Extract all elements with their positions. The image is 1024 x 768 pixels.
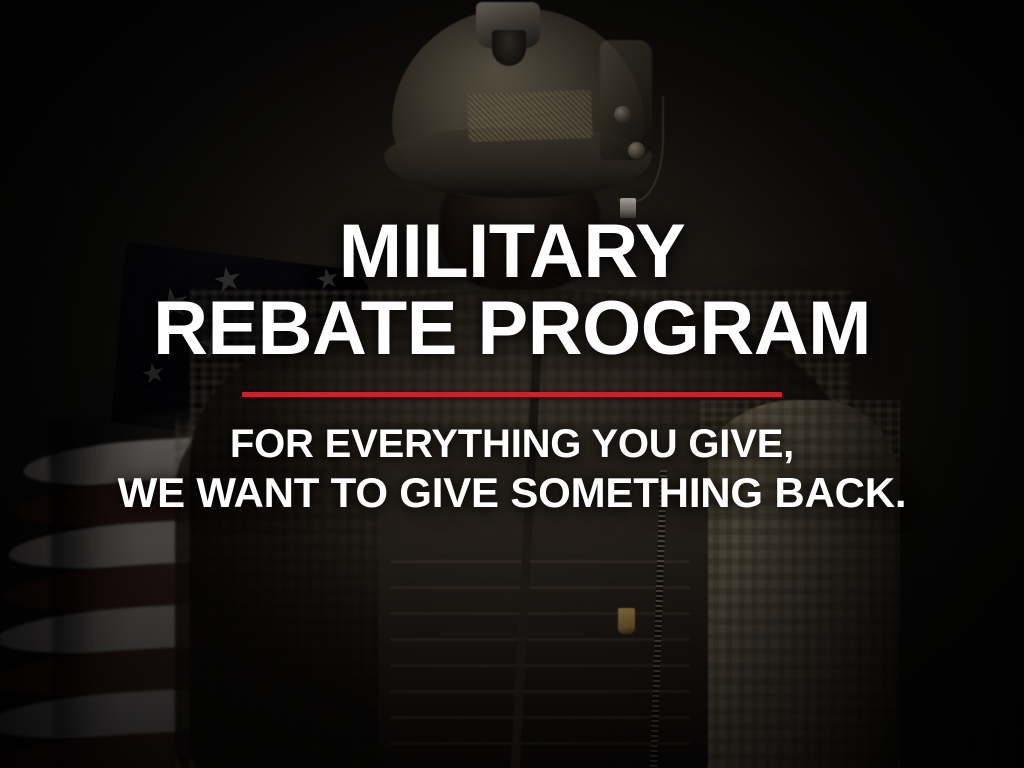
subheadline-line-2: WE WANT TO GIVE SOMETHING BACK.: [118, 471, 907, 516]
poster-content: MILITARY REBATE PROGRAM FOR EVERYTHING Y…: [0, 0, 1024, 768]
subheadline-line-1: FOR EVERYTHING YOU GIVE,: [230, 423, 794, 465]
military-rebate-poster: MILITARY REBATE PROGRAM FOR EVERYTHING Y…: [0, 0, 1024, 768]
headline-line-1: MILITARY: [339, 216, 685, 289]
red-divider-rule: [242, 392, 782, 397]
headline-line-2: REBATE PROGRAM: [153, 293, 871, 366]
